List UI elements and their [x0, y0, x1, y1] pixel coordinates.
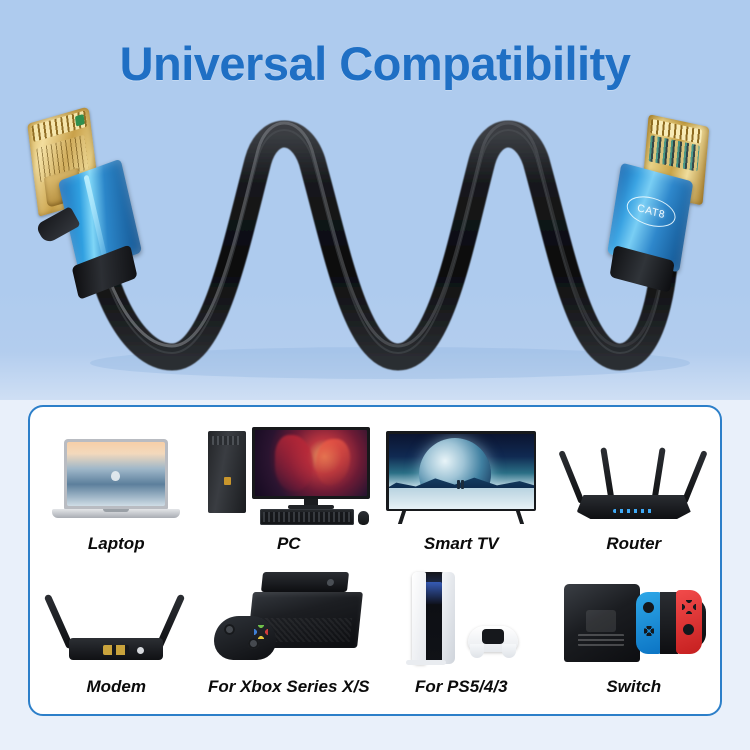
device-item-laptop[interactable]: Laptop [30, 423, 203, 554]
nintendo-switch-icon [564, 566, 704, 668]
device-item-xbox[interactable]: For Xbox Series X/S [203, 566, 376, 697]
playstation-console-icon [398, 566, 524, 668]
desktop-pc-icon [208, 423, 370, 525]
device-label: For Xbox Series X/S [208, 677, 370, 697]
rj45-connector-right: CAT8 [594, 111, 748, 294]
cat8-badge: CAT8 [625, 191, 678, 232]
device-label: For PS5/4/3 [415, 677, 508, 697]
laptop-icon [52, 423, 180, 525]
device-item-switch[interactable]: Switch [548, 566, 721, 697]
smart-tv-icon [386, 423, 536, 525]
hero-section: Universal Compatibility [0, 0, 750, 400]
router-icon [573, 423, 695, 525]
device-label: Switch [606, 677, 661, 697]
compatibility-row-1: Laptop PC [30, 407, 720, 554]
device-item-playstation[interactable]: For PS5/4/3 [375, 566, 548, 697]
device-item-router[interactable]: Router [548, 423, 721, 554]
device-label: Modem [87, 677, 147, 697]
device-item-pc[interactable]: PC [203, 423, 376, 554]
shell-highlight [83, 175, 108, 262]
modem-icon [55, 566, 177, 668]
product-marketing-image: Universal Compatibility [0, 0, 750, 750]
xbox-console-icon [214, 566, 364, 668]
device-label: PC [277, 534, 301, 554]
page-title: Universal Compatibility [0, 36, 750, 91]
device-item-modem[interactable]: Modem [30, 566, 203, 697]
device-item-smart-tv[interactable]: Smart TV [375, 423, 548, 554]
device-label: Laptop [88, 534, 145, 554]
device-label: Router [606, 534, 661, 554]
compatibility-row-2: Modem For Xbox Series X/S [30, 554, 720, 697]
compatibility-panel: Laptop PC [28, 405, 722, 716]
device-label: Smart TV [424, 534, 499, 554]
